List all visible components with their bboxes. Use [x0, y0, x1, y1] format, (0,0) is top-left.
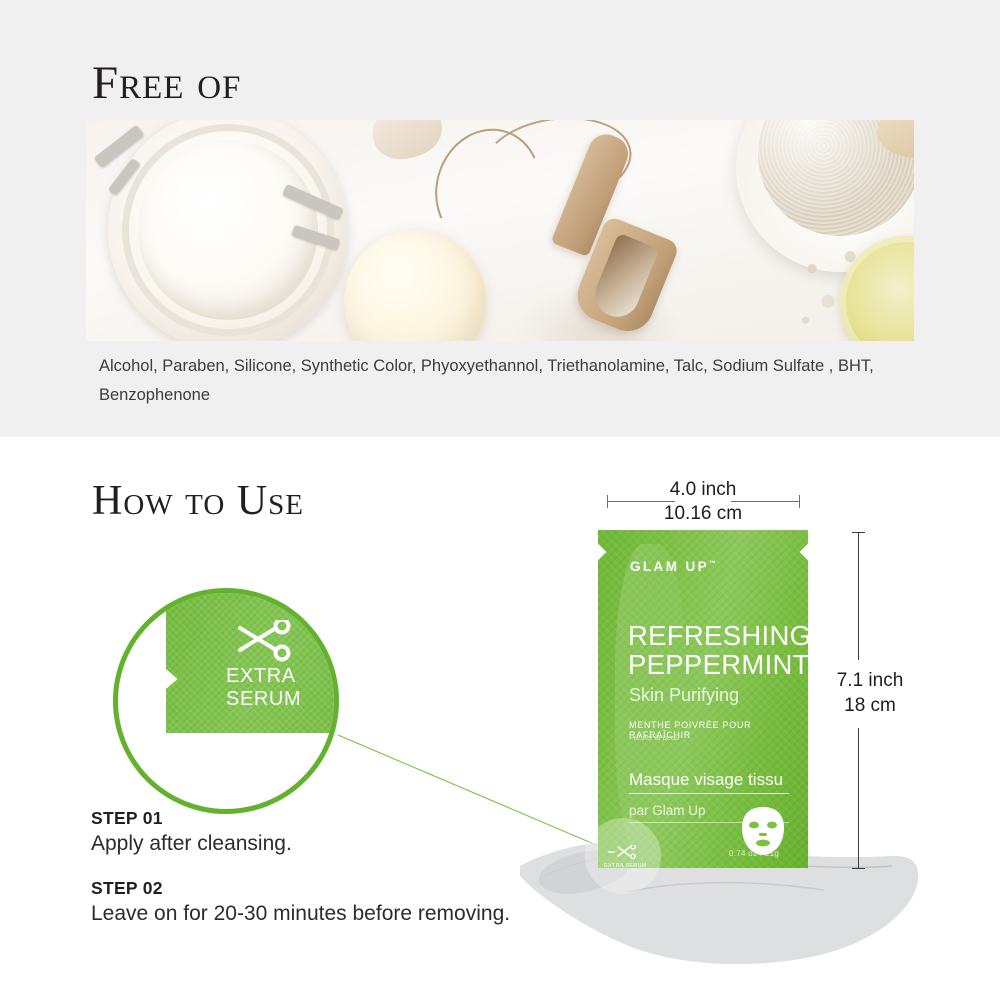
jar-cream [138, 140, 318, 320]
width-inch-value: 4.0 inch [595, 478, 811, 502]
net-weight-label: 0.74 oz / 21g [729, 849, 779, 858]
free-of-title: Free of [92, 58, 241, 108]
height-dimension-label: 7.1 inch 18 cm [814, 668, 926, 718]
height-dimension-cap-bottom [852, 868, 865, 869]
how-to-use-title: How to Use [92, 478, 304, 524]
product-subtitle: Skin Purifying [629, 685, 739, 706]
free-of-ingredient-list: Alcohol, Paraben, Silicone, Synthetic Co… [99, 352, 899, 410]
scissors-icon [236, 620, 292, 662]
width-cm-value: 10.16 cm [595, 502, 811, 526]
width-dimension-label: 4.0 inch 10.16 cm [595, 478, 811, 526]
product-french-italic: Purifier la peau [629, 733, 679, 742]
product-name-line-2: PEPPERMINT [628, 650, 810, 680]
step-02-label: STEP 02 [91, 878, 510, 899]
extra-serum-magnifier: EXTRA SERUM [113, 588, 339, 814]
extra-serum-label: EXTRA SERUM [226, 665, 334, 711]
height-dimension-cap-top [852, 532, 865, 533]
step-01-label: STEP 01 [91, 808, 292, 829]
product-infographic: Free of Alcohol, Paraben, Silicone, Synt… [0, 0, 1000, 1000]
step-02: STEP 02 Leave on for 20-30 minutes befor… [91, 878, 510, 926]
ingredients-photo [86, 120, 914, 341]
step-01: STEP 01 Apply after cleansing. [91, 808, 292, 856]
step-02-text: Leave on for 20-30 minutes before removi… [91, 902, 510, 926]
height-inch-value: 7.1 inch [814, 668, 926, 693]
height-cm-value: 18 cm [814, 693, 926, 718]
height-dimension-line-top [858, 532, 859, 660]
trademark-mark: ™ [709, 561, 718, 568]
height-dimension-line-bottom [858, 728, 859, 868]
brand-name: GLAM UP™ [630, 559, 718, 574]
product-name-line-1: REFRESHING [628, 621, 811, 651]
free-of-section: Free of Alcohol, Paraben, Silicone, Synt… [0, 0, 1000, 437]
packet-corner-label: EXTRA SERUM [604, 863, 647, 869]
scissors-icon [608, 845, 638, 859]
french-product-title: Masque visage tissu [629, 770, 789, 794]
brand-text: GLAM UP [630, 559, 709, 574]
step-01-text: Apply after cleansing. [91, 832, 292, 856]
